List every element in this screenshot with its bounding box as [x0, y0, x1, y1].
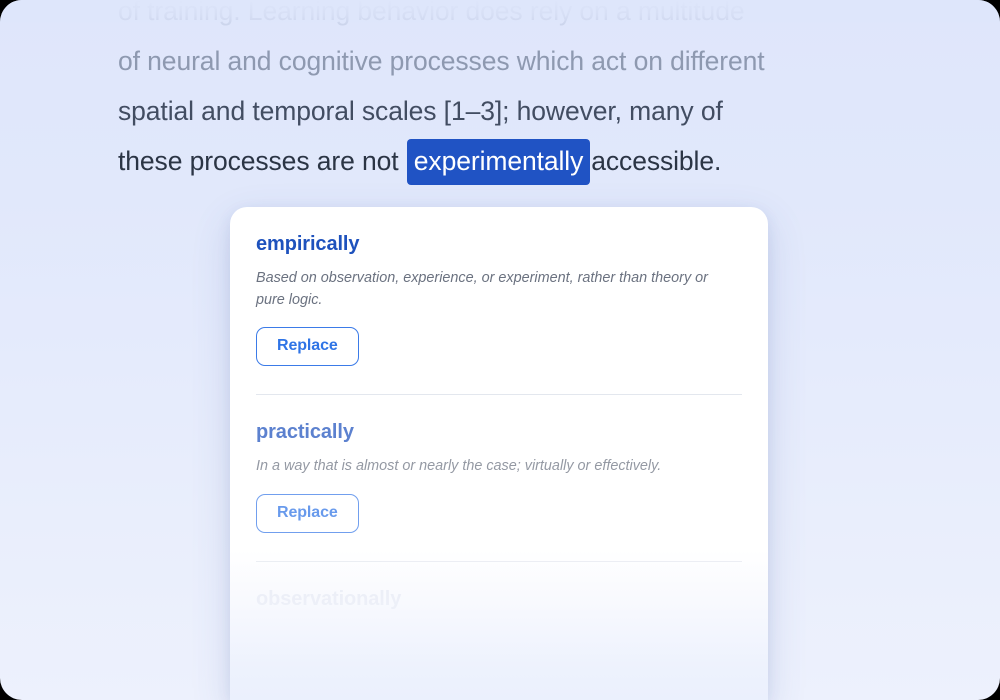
suggestion-item-observationally[interactable]: observationally	[256, 562, 742, 611]
suggestion-word: practically	[256, 421, 742, 444]
document-paragraph: of training. Learning behavior does rely…	[118, 0, 908, 186]
app-window: of training. Learning behavior does rely…	[0, 0, 1000, 700]
highlighted-word[interactable]: experimentally	[407, 139, 590, 185]
synonym-suggestion-card: empirically Based on observation, experi…	[230, 207, 768, 700]
suggestion-list[interactable]: empirically Based on observation, experi…	[230, 207, 768, 700]
suggestion-word: observationally	[256, 588, 742, 611]
suggestion-definition: Based on observation, experience, or exp…	[256, 268, 708, 311]
document-line-4-prefix: these processes are not	[118, 146, 406, 176]
document-line-3: spatial and temporal scales [1–3]; howev…	[118, 86, 908, 136]
document-line-4-suffix: accessible.	[591, 146, 721, 176]
suggestion-definition: In a way that is almost or nearly the ca…	[256, 456, 708, 478]
document-line-2: of neural and cognitive processes which …	[118, 36, 908, 86]
replace-button-practically[interactable]: Replace	[256, 494, 359, 533]
replace-button-empirically[interactable]: Replace	[256, 327, 359, 366]
suggestion-item-empirically[interactable]: empirically Based on observation, experi…	[256, 207, 742, 395]
document-line-4: these processes are not experimentallyac…	[118, 136, 908, 186]
suggestion-item-practically[interactable]: practically In a way that is almost or n…	[256, 395, 742, 562]
suggestion-word: empirically	[256, 233, 742, 256]
document-line-1: of training. Learning behavior does rely…	[118, 0, 908, 36]
